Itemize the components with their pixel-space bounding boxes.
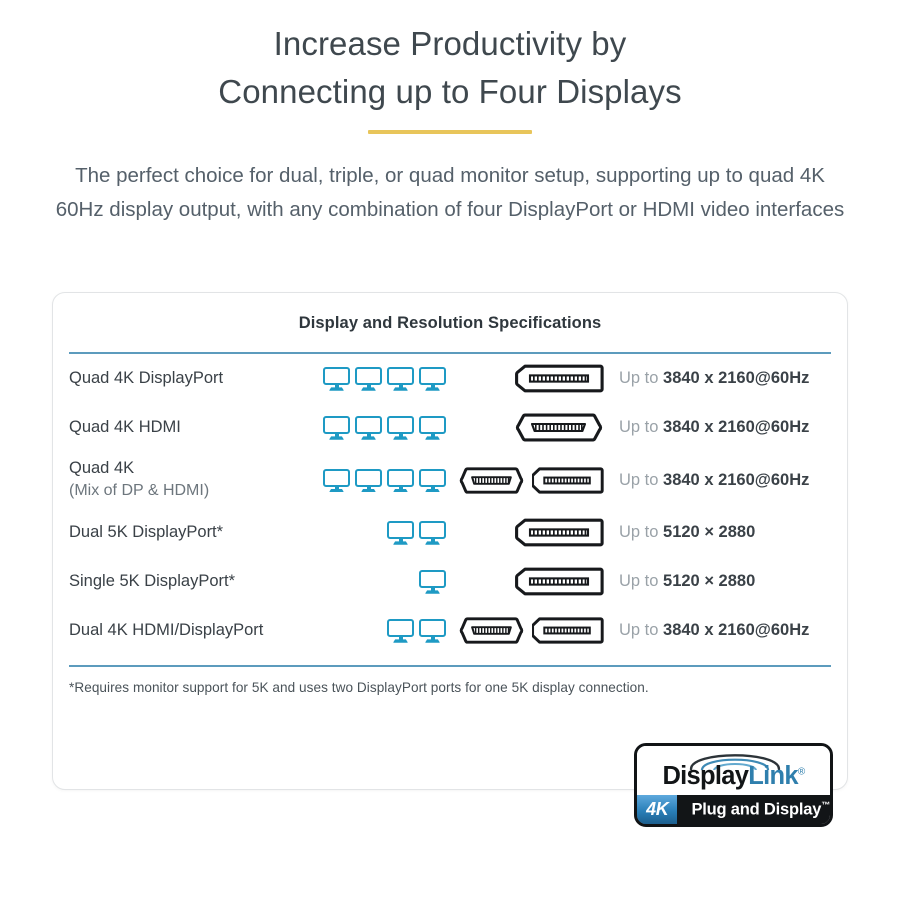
resolution-prefix: Up to	[619, 572, 658, 590]
monitor-icon	[387, 617, 414, 644]
row-label-cell: Quad 4K HDMI	[69, 417, 297, 439]
registered-trademark-icon: ®	[798, 767, 805, 778]
monitor-icons-cell	[297, 617, 452, 644]
monitor-icon	[323, 414, 350, 441]
resolution-cell: Up to 3840 x 2160@60Hz	[615, 621, 831, 640]
row-sublabel: (Mix of DP & HDMI)	[69, 480, 297, 501]
table-row: Quad 4K HDMI	[69, 403, 831, 452]
hdmi-connector-icon	[457, 616, 525, 645]
specifications-table: Quad 4K DisplayPort	[53, 354, 847, 655]
displayport-connector-icon	[514, 518, 604, 547]
monitor-icon	[355, 467, 382, 494]
trademark-icon: ™	[821, 800, 830, 810]
monitor-icons-cell	[297, 519, 452, 546]
displayport-connector-icon	[532, 466, 604, 495]
port-icons-cell	[452, 466, 615, 495]
resolution-value: 3840 x 2160@60Hz	[663, 621, 809, 639]
displaylink-tagline-text: Plug and Display	[691, 800, 821, 818]
resolution-value: 3840 x 2160@60Hz	[663, 471, 809, 489]
row-label-cell: Quad 4K DisplayPort	[69, 368, 297, 390]
monitor-icon	[387, 365, 414, 392]
monitor-icons-cell	[297, 414, 452, 441]
displaylink-wordmark-link: Link	[748, 762, 798, 790]
hdmi-connector-icon	[514, 413, 604, 442]
row-label: Quad 4K	[69, 458, 297, 480]
resolution-value: 5120 × 2880	[663, 572, 755, 590]
monitor-icon	[387, 467, 414, 494]
row-label-cell: Dual 4K HDMI/DisplayPort	[69, 620, 297, 642]
page-subtitle: The perfect choice for dual, triple, or …	[55, 159, 845, 227]
port-icons-cell	[452, 567, 615, 596]
resolution-prefix: Up to	[619, 471, 658, 489]
monitor-icons-cell	[297, 467, 452, 494]
table-row: Quad 4K DisplayPort	[69, 354, 831, 403]
port-icons-cell	[452, 616, 615, 645]
specifications-card: Display and Resolution Specifications Qu…	[52, 292, 848, 790]
footnote: *Requires monitor support for 5K and use…	[53, 667, 847, 695]
resolution-prefix: Up to	[619, 418, 658, 436]
table-row: Quad 4K (Mix of DP & HDMI)	[69, 452, 831, 508]
table-row: Dual 4K HDMI/DisplayPort	[69, 606, 831, 655]
monitor-icon	[419, 414, 446, 441]
page-title-line-2: Connecting up to Four Displays	[130, 68, 770, 116]
displayport-connector-icon	[514, 364, 604, 393]
monitor-icon	[355, 365, 382, 392]
monitor-icon	[419, 467, 446, 494]
monitor-icon	[355, 414, 382, 441]
monitor-icon	[323, 467, 350, 494]
monitor-icon	[419, 519, 446, 546]
resolution-cell: Up to 5120 × 2880	[615, 523, 831, 542]
hdmi-connector-icon	[457, 466, 525, 495]
resolution-badge-4k: 4K	[637, 795, 677, 824]
monitor-icon	[419, 365, 446, 392]
monitor-icon	[419, 617, 446, 644]
displaylink-badge: DisplayLink® 4K Plug and Display™	[634, 743, 833, 827]
monitor-icon	[387, 519, 414, 546]
port-icons-cell	[452, 413, 615, 442]
resolution-value: 3840 x 2160@60Hz	[663, 369, 809, 387]
port-icons-cell	[452, 518, 615, 547]
resolution-cell: Up to 3840 x 2160@60Hz	[615, 418, 831, 437]
resolution-value: 3840 x 2160@60Hz	[663, 418, 809, 436]
row-label-cell: Dual 5K DisplayPort*	[69, 522, 297, 544]
page-title-line-1: Increase Productivity by	[130, 20, 770, 68]
row-label-cell: Single 5K DisplayPort*	[69, 571, 297, 593]
resolution-cell: Up to 3840 x 2160@60Hz	[615, 369, 831, 388]
row-label-cell: Quad 4K (Mix of DP & HDMI)	[69, 458, 297, 501]
row-label: Dual 4K HDMI/DisplayPort	[69, 621, 263, 639]
monitor-icon	[419, 568, 446, 595]
displaylink-wordmark-display: Display	[662, 762, 748, 790]
row-label: Dual 5K DisplayPort*	[69, 523, 223, 541]
table-row: Dual 5K DisplayPort*	[69, 508, 831, 557]
row-label: Quad 4K HDMI	[69, 418, 181, 436]
displayport-connector-icon	[532, 616, 604, 645]
hero-section: Increase Productivity by Connecting up t…	[0, 0, 900, 226]
displaylink-tagline: Plug and Display™	[677, 800, 830, 820]
monitor-icons-cell	[297, 568, 452, 595]
resolution-cell: Up to 5120 × 2880	[615, 572, 831, 591]
resolution-prefix: Up to	[619, 369, 658, 387]
row-label: Quad 4K DisplayPort	[69, 369, 223, 387]
resolution-cell: Up to 3840 x 2160@60Hz	[615, 471, 831, 490]
resolution-prefix: Up to	[619, 621, 658, 639]
displaylink-badge-bottom: 4K Plug and Display™	[637, 795, 830, 824]
page-title: Increase Productivity by Connecting up t…	[130, 20, 770, 116]
title-accent-rule	[368, 130, 532, 134]
monitor-icons-cell	[297, 365, 452, 392]
monitor-icon	[387, 414, 414, 441]
row-label: Single 5K DisplayPort*	[69, 572, 235, 590]
displaylink-badge-top: DisplayLink®	[637, 746, 830, 798]
displayport-connector-icon	[514, 567, 604, 596]
table-row: Single 5K DisplayPort*	[69, 557, 831, 606]
card-title: Display and Resolution Specifications	[53, 293, 847, 333]
displaylink-wordmark: DisplayLink®	[637, 764, 830, 790]
resolution-value: 5120 × 2880	[663, 523, 755, 541]
resolution-prefix: Up to	[619, 523, 658, 541]
port-icons-cell	[452, 364, 615, 393]
monitor-icon	[323, 365, 350, 392]
